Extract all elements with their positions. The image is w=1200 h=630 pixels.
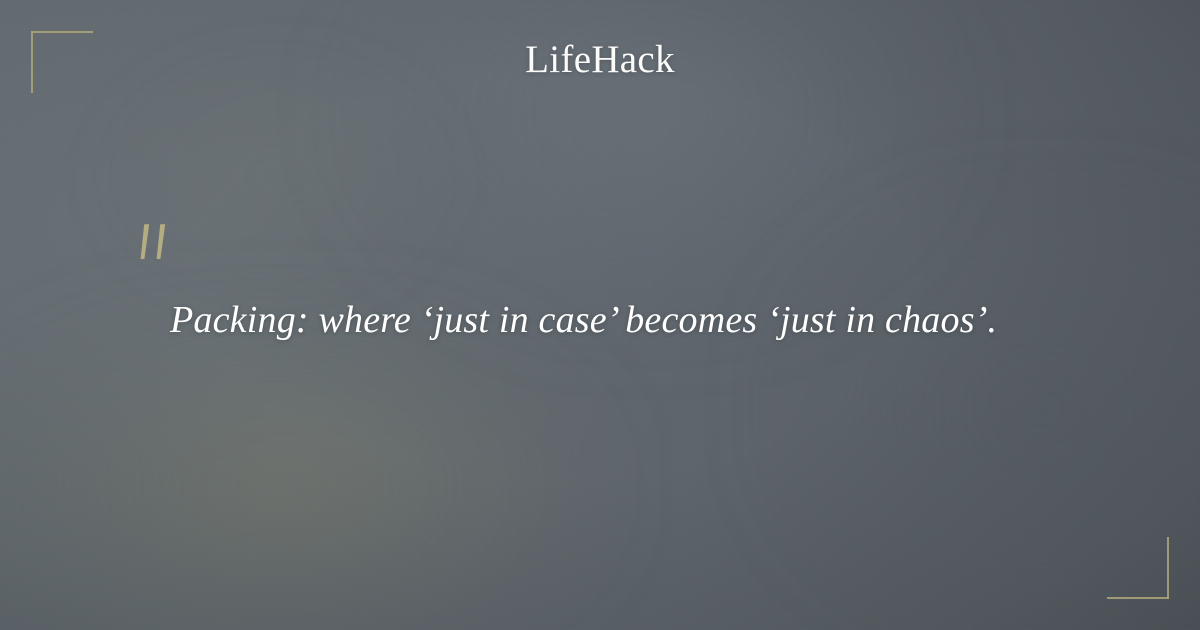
quote-card: LifeHack Packing: where ‘just in case’ b… bbox=[0, 0, 1200, 630]
quote-text: Packing: where ‘just in case’ becomes ‘j… bbox=[170, 296, 1070, 345]
double-quote-mark-icon bbox=[131, 222, 175, 270]
lifehack-logo: LifeHack bbox=[0, 40, 1200, 81]
